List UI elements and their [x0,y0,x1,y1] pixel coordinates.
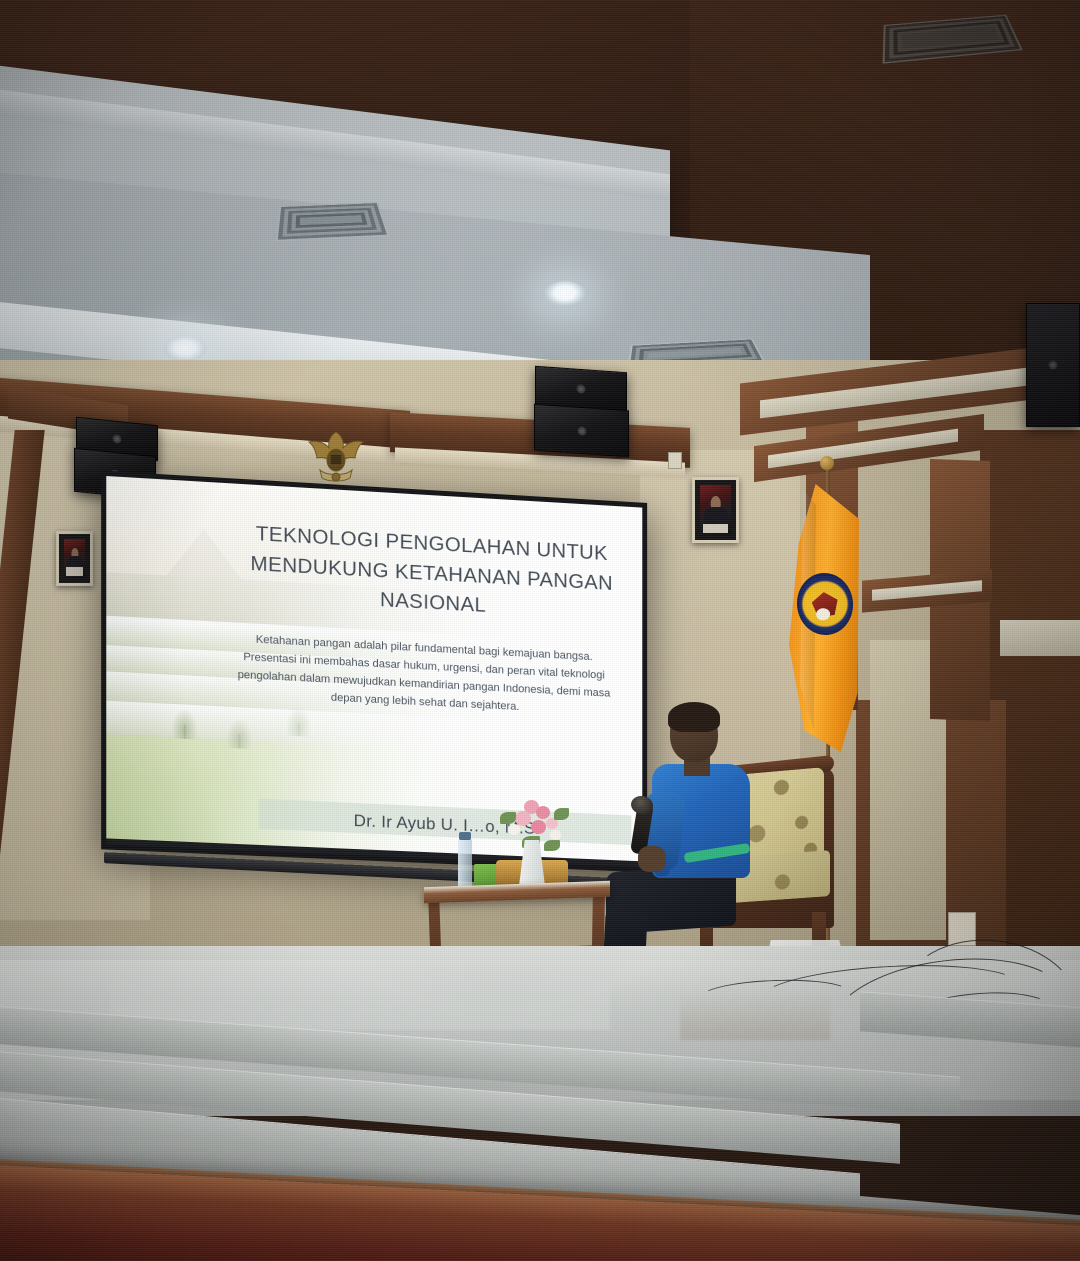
seminar-hall-photo: TEKNOLOGI PENGOLAHAN UNTUK MENDUKUNG KET… [0,0,1080,1261]
wall-switch-plate[interactable] [668,452,682,469]
emblem-leaf [815,607,830,620]
wall-speaker-icon [1026,303,1080,427]
wood-panel-inset [1000,620,1080,656]
portrait-image [64,539,85,578]
water-bottle-cap [459,832,471,840]
framed-official-portrait [692,477,739,543]
wall-outlet-plate[interactable] [948,912,976,946]
recessed-downlight-icon [543,281,587,307]
slide-body-text: Ketahanan pangan adalah pilar fundamenta… [229,629,618,721]
presenter-hair [668,702,720,732]
slide-title: TEKNOLOGI PENGOLAHAN UNTUK MENDUKUNG KET… [242,514,620,627]
wall-speaker-icon [534,404,629,458]
ac-diffuser-vent-icon [275,202,389,241]
portrait-nameplate [66,567,83,576]
portrait-image [700,485,731,535]
framed-official-portrait [56,531,93,586]
garuda-pancasila-emblem-icon [300,424,372,492]
flag-finial-icon [820,456,834,470]
water-bottle [458,838,472,888]
presenter-hand [638,846,666,872]
portrait-nameplate [703,524,728,533]
recessed-downlight-icon [163,336,207,362]
